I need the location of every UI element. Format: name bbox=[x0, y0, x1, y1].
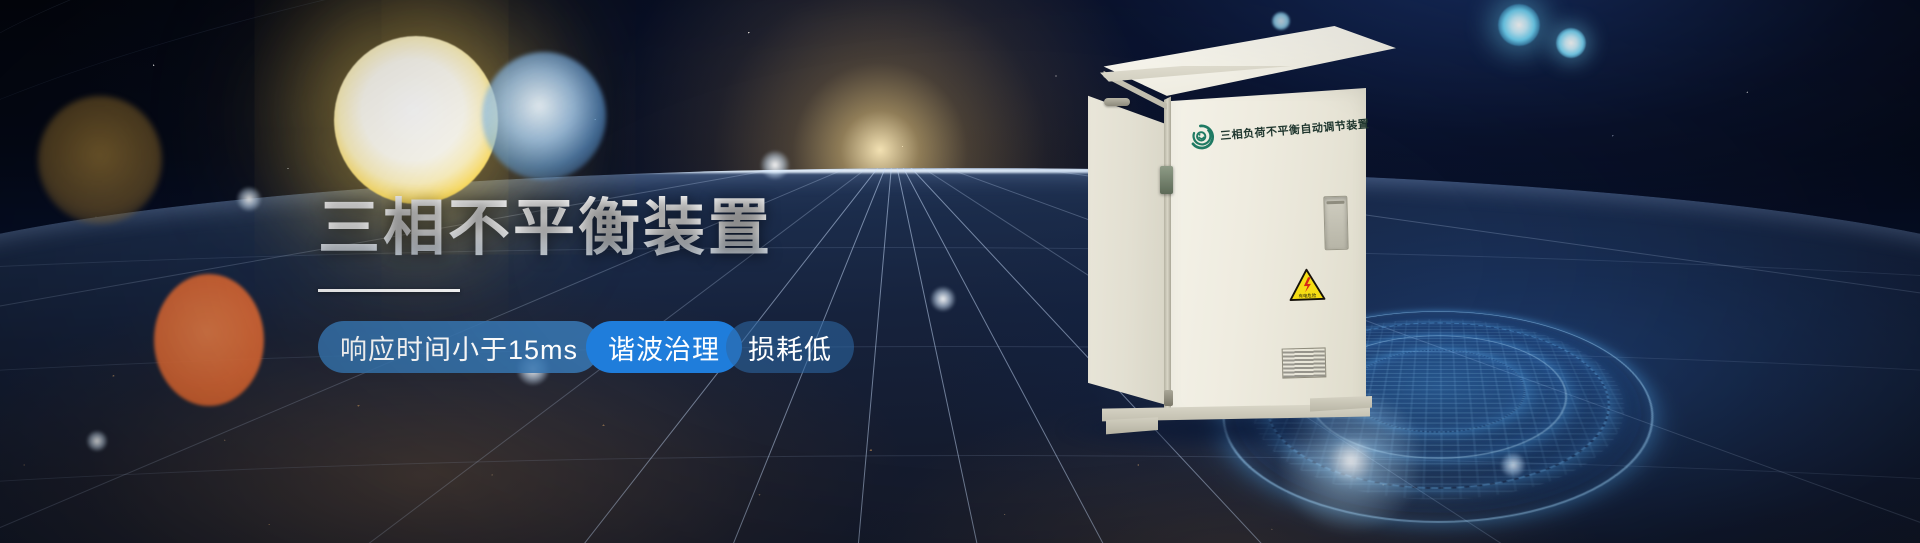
feature-tag-response-time[interactable]: 响应时间小于15ms bbox=[318, 321, 600, 373]
title-divider bbox=[318, 289, 460, 292]
cabinet-lower-vent-grille bbox=[1282, 347, 1327, 378]
cabinet-door-label: 三相负荷不平衡自动调节装置 bbox=[1220, 116, 1370, 144]
feature-tag-harmonic[interactable]: 谐波治理 bbox=[586, 321, 742, 373]
latitude-arc bbox=[0, 455, 1920, 543]
cabinet-door-hinge bbox=[1164, 390, 1173, 406]
hero-banner: 三相不平衡装置 响应时间小于15ms 谐波治理 损耗低 三相 bbox=[0, 0, 1920, 543]
product-cabinet: 三相负荷不平衡自动调节装置 有电危险 bbox=[1060, 18, 1390, 436]
headline-block: 三相不平衡装置 响应时间小于15ms 谐波治理 损耗低 bbox=[318, 196, 1038, 373]
feature-tag-low-loss[interactable]: 损耗低 bbox=[726, 321, 854, 373]
cabinet-side-handle bbox=[1104, 98, 1130, 106]
electrical-hazard-sticker: 有电危险 bbox=[1287, 267, 1326, 302]
cabinet-vent-slot bbox=[1323, 196, 1348, 251]
cabinet-side-panel bbox=[1088, 76, 1170, 406]
company-logo-icon bbox=[1187, 123, 1215, 151]
cabinet-door-seam bbox=[1164, 90, 1171, 418]
feature-tag-list: 响应时间小于15ms 谐波治理 损耗低 bbox=[318, 321, 1038, 373]
warning-triangle-icon: 有电危险 bbox=[1287, 267, 1326, 302]
page-title: 三相不平衡装置 bbox=[318, 196, 1038, 261]
cabinet-door-lock bbox=[1160, 166, 1173, 194]
